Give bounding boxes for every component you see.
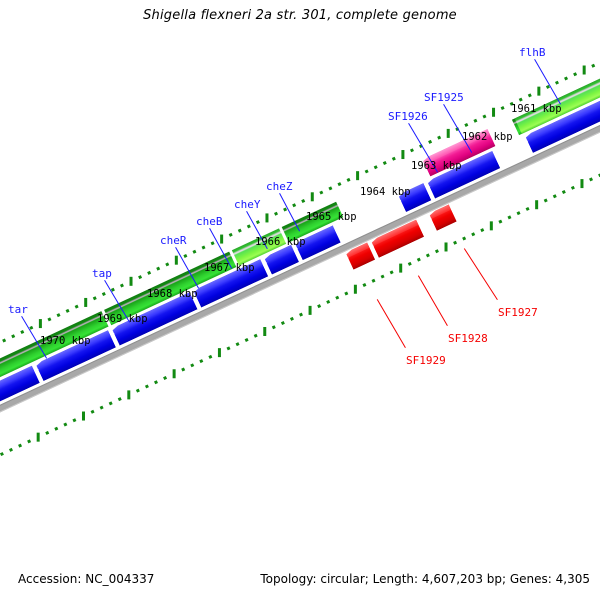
minor-tick <box>381 275 385 279</box>
gene-label[interactable]: SF1926 <box>388 110 428 123</box>
minor-tick <box>526 207 530 211</box>
minor-tick <box>181 368 185 372</box>
minor-tick <box>292 203 296 207</box>
minor-tick <box>390 270 394 274</box>
minor-tick <box>0 452 4 456</box>
major-tick <box>173 369 176 378</box>
genome-stats-text: Topology: circular; Length: 4,607,203 bp… <box>260 572 590 586</box>
minor-tick <box>102 292 106 296</box>
minor-tick <box>553 194 557 198</box>
major-tick <box>583 66 586 75</box>
minor-tick <box>183 254 187 258</box>
minor-tick <box>372 279 376 283</box>
minor-tick <box>462 237 466 241</box>
gene-label[interactable]: SF1925 <box>424 91 464 104</box>
major-tick <box>265 213 268 222</box>
genome-viewer: Shigella flexneri 2a str. 301, complete … <box>0 0 600 600</box>
minor-tick <box>272 325 276 329</box>
minor-tick <box>154 380 158 384</box>
minor-tick <box>72 418 76 422</box>
minor-tick <box>480 228 484 232</box>
minor-tick <box>245 338 249 342</box>
minor-tick <box>274 212 278 216</box>
major-tick <box>37 433 40 442</box>
minor-tick <box>2 338 6 342</box>
minor-tick <box>75 305 79 309</box>
minor-tick <box>426 253 430 257</box>
major-tick <box>537 87 540 96</box>
minor-tick <box>519 98 523 102</box>
minor-tick <box>18 444 22 448</box>
gene-label[interactable]: SF1929 <box>406 354 446 367</box>
minor-tick <box>507 215 511 219</box>
kbp-marker: 1969 kbp <box>97 313 148 325</box>
gene-label[interactable]: tar <box>8 303 28 316</box>
minor-tick <box>362 283 366 287</box>
major-tick <box>218 348 221 357</box>
gene-label[interactable]: flhB <box>519 46 546 59</box>
minor-tick <box>190 363 194 367</box>
minor-tick <box>20 330 24 334</box>
major-tick <box>354 285 357 294</box>
minor-tick <box>482 115 486 119</box>
minor-tick <box>528 93 532 97</box>
minor-tick <box>299 313 303 317</box>
minor-tick <box>57 313 61 317</box>
kbp-marker: 1970 kbp <box>40 335 91 347</box>
major-tick <box>580 179 583 188</box>
minor-tick <box>27 439 31 443</box>
minor-tick <box>319 191 323 195</box>
minor-tick <box>118 397 122 401</box>
minor-tick <box>301 199 305 203</box>
minor-tick <box>555 81 559 85</box>
major-tick <box>175 256 178 265</box>
gene-label[interactable]: cheR <box>160 234 187 247</box>
minor-tick <box>9 448 13 452</box>
minor-tick <box>156 267 160 271</box>
minor-tick <box>344 291 348 295</box>
minor-tick <box>337 182 341 186</box>
accession-text: Accession: NC_004337 <box>18 572 154 586</box>
major-tick <box>309 306 312 315</box>
minor-tick <box>93 296 97 300</box>
minor-tick <box>199 359 203 363</box>
gene-label[interactable]: cheY <box>234 198 261 211</box>
minor-tick <box>428 140 432 144</box>
minor-tick <box>238 229 242 233</box>
minor-tick <box>45 431 49 435</box>
minor-tick <box>435 249 439 253</box>
minor-tick <box>192 250 196 254</box>
label-leader-line <box>418 276 447 326</box>
major-tick <box>39 319 42 328</box>
minor-tick <box>138 275 142 279</box>
minor-tick <box>501 106 505 110</box>
page-title: Shigella flexneri 2a str. 301, complete … <box>0 8 600 23</box>
minor-tick <box>202 246 206 250</box>
minor-tick <box>66 309 70 313</box>
kbp-marker: 1961 kbp <box>511 103 562 115</box>
minor-tick <box>208 355 212 359</box>
minor-tick <box>347 178 351 182</box>
minor-tick <box>383 161 387 165</box>
minor-tick <box>54 427 58 431</box>
gene-label[interactable]: SF1928 <box>448 332 488 345</box>
minor-tick <box>408 262 412 266</box>
minor-tick <box>471 232 475 236</box>
minor-tick <box>211 241 215 245</box>
major-tick <box>535 200 538 209</box>
minor-tick <box>544 198 548 202</box>
minor-tick <box>517 211 521 215</box>
major-tick <box>130 277 133 286</box>
minor-tick <box>147 271 151 275</box>
minor-tick <box>247 224 251 228</box>
gene-label[interactable]: cheB <box>196 215 223 228</box>
minor-tick <box>589 177 593 181</box>
minor-tick <box>365 169 369 173</box>
minor-tick <box>63 422 67 426</box>
kbp-marker: 1964 kbp <box>360 186 411 198</box>
minor-tick <box>109 401 113 405</box>
minor-tick <box>254 334 258 338</box>
minor-tick <box>11 334 15 338</box>
minor-tick <box>236 342 240 346</box>
minor-tick <box>374 165 378 169</box>
kbp-marker: 1968 kbp <box>147 288 198 300</box>
minor-tick <box>136 389 140 393</box>
minor-tick <box>410 148 414 152</box>
minor-tick <box>571 186 575 190</box>
major-tick <box>220 235 223 244</box>
minor-tick <box>163 376 167 380</box>
minor-tick <box>464 123 468 127</box>
kbp-marker: 1967 kbp <box>204 262 255 274</box>
gene-label[interactable]: tap <box>92 267 112 280</box>
minor-tick <box>256 220 260 224</box>
minor-tick <box>453 241 457 245</box>
gene-label[interactable]: cheZ <box>266 180 293 193</box>
major-tick <box>447 129 450 138</box>
minor-tick <box>165 262 169 266</box>
major-tick <box>127 390 130 399</box>
minor-tick <box>100 406 104 410</box>
minor-tick <box>290 317 294 321</box>
gene-label[interactable]: SF1927 <box>498 306 538 319</box>
major-tick <box>492 108 495 117</box>
minor-tick <box>573 72 577 76</box>
label-leader-line <box>464 249 497 300</box>
major-tick <box>445 242 448 251</box>
minor-tick <box>328 186 332 190</box>
minor-tick <box>591 64 595 68</box>
minor-tick <box>120 284 124 288</box>
major-tick <box>84 298 87 307</box>
minor-tick <box>317 304 321 308</box>
minor-tick <box>281 321 285 325</box>
major-tick <box>399 264 402 273</box>
kbp-marker: 1962 kbp <box>462 131 513 143</box>
minor-tick <box>91 410 95 414</box>
kbp-marker: 1965 kbp <box>306 211 357 223</box>
minor-tick <box>47 317 51 321</box>
minor-tick <box>326 300 330 304</box>
minor-tick <box>392 157 396 161</box>
major-tick <box>82 412 85 421</box>
minor-tick <box>437 136 441 140</box>
kbp-marker: 1966 kbp <box>255 236 306 248</box>
major-tick <box>356 171 359 180</box>
kbp-marker: 1963 kbp <box>411 160 462 172</box>
major-tick <box>263 327 266 336</box>
major-tick <box>401 150 404 159</box>
minor-tick <box>229 233 233 237</box>
label-leader-line <box>377 300 405 348</box>
minor-tick <box>564 76 568 80</box>
major-tick <box>311 192 314 201</box>
minor-tick <box>473 119 477 123</box>
minor-tick <box>498 220 502 224</box>
minor-tick <box>227 346 231 350</box>
minor-tick <box>335 296 339 300</box>
major-tick <box>490 221 493 230</box>
minor-tick <box>562 190 566 194</box>
minor-tick <box>145 384 149 388</box>
minor-tick <box>417 258 421 262</box>
